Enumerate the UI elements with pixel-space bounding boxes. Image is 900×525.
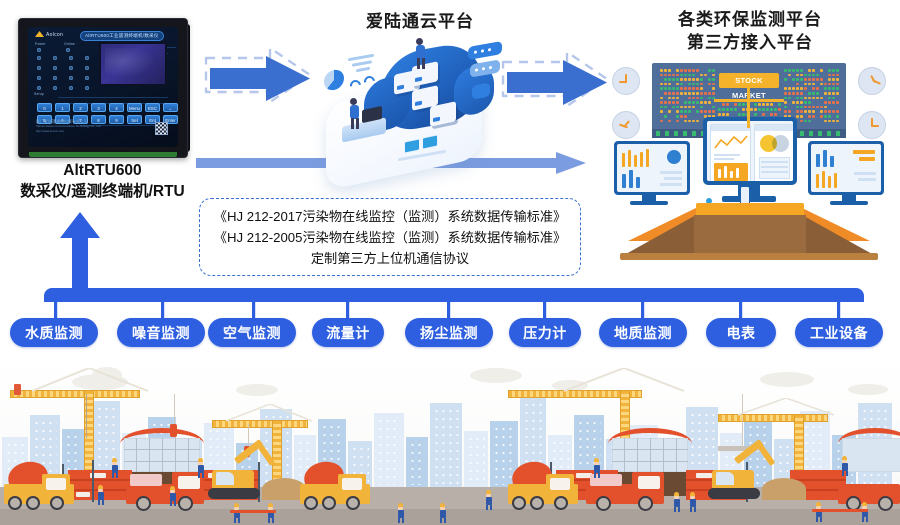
device-key-9[interactable]: 9	[109, 115, 124, 124]
stock-market-label: STOCK MARKET	[719, 73, 779, 88]
transfer-arrow-1-icon	[208, 54, 314, 104]
monitoring-platform-title-line2: 第三方接入平台	[625, 31, 875, 54]
side-monitor-right	[808, 141, 884, 195]
monitoring-platform-title: 各类环保监测平台 第三方接入平台	[625, 8, 875, 54]
line-chart-icon	[714, 134, 748, 152]
cloud-3	[236, 384, 278, 396]
sensor-pill-label: 水质监测	[25, 323, 83, 343]
device-key-0[interactable]: 0	[37, 103, 52, 112]
standard-line-2: 《HJ 212-2005污染物在线监控（监测）系统数据传输标准》	[214, 227, 566, 248]
sensor-pill-label: 电表	[727, 323, 756, 343]
wall-clock-4	[858, 111, 886, 139]
standards-box: 《HJ 212-2017污染物在线监控（监测）系统数据传输标准》 《HJ 212…	[199, 198, 581, 276]
main-monitor-screen	[707, 121, 793, 181]
road	[0, 509, 900, 525]
device-pcb-edge	[29, 152, 177, 157]
device-key-4[interactable]: 4	[109, 103, 124, 112]
infographic-root: 爱陆通云平台 各类环保监测平台 第三方接入平台 Aolcon AltRTU600…	[0, 0, 900, 525]
sensor-pill-label: 流量计	[326, 323, 370, 343]
side-monitor-left-screen	[617, 144, 687, 192]
desk-front	[694, 215, 806, 255]
cloud-7	[848, 384, 888, 395]
cloud-platform-illustration	[318, 36, 498, 176]
sensor-pill-8[interactable]: 电表	[706, 318, 776, 347]
sensor-pill-label: 噪音监测	[132, 323, 190, 343]
dashboard-panel-right	[754, 124, 793, 181]
brand-mark-icon	[35, 31, 44, 37]
crane-1-top	[30, 368, 150, 392]
cloud-4	[470, 368, 522, 383]
crane-2-top	[224, 404, 314, 422]
sensor-pill-label: 工业设备	[810, 323, 868, 343]
device-company-text: 厦门爱陆通通信科技有限公司 Xiamen Aolcon Communicatio…	[36, 119, 101, 134]
main-monitor	[703, 117, 797, 185]
board-center-pole	[747, 88, 750, 128]
sensor-pill-4[interactable]: 流量计	[312, 318, 384, 347]
sensor-pill-3[interactable]: 空气监测	[208, 318, 296, 347]
sensor-pill-6[interactable]: 压力计	[509, 318, 581, 347]
monitoring-platform-illustration: STOCK MARKET	[606, 55, 892, 270]
device-key-esc[interactable]: ESC	[145, 103, 160, 112]
transfer-arrow-2-icon	[505, 58, 611, 108]
arc-decoration-1	[348, 78, 363, 93]
desk-front-left	[624, 215, 696, 255]
standard-line-3: 定制第三方上位机通信协议	[311, 248, 469, 269]
device-type-label: 数采仪/遥测终端机/RTU	[0, 181, 205, 202]
construction-site-illustration	[0, 362, 900, 525]
device-brand-logo: Aolcon	[35, 31, 63, 38]
device-body: Aolcon AltRTU600工业遥测终端机/数采仪 Power Online…	[18, 18, 188, 158]
device-lcd-screen	[99, 42, 167, 86]
dashboard-panel-left	[710, 124, 751, 181]
qr-code-icon	[155, 122, 168, 135]
device-key-set[interactable]: Set	[127, 115, 142, 124]
dirt-pile-2	[762, 478, 806, 500]
side-monitor-right-screen	[811, 144, 881, 192]
side-monitor-left	[614, 141, 690, 195]
sensor-pill-1[interactable]: 水质监测	[10, 318, 98, 347]
desk-edge	[620, 253, 878, 260]
sensor-pill-7[interactable]: 地质监测	[599, 318, 687, 347]
device-key-menu[interactable]: Menu	[127, 103, 142, 112]
sensor-pill-2[interactable]: 噪音监测	[117, 318, 205, 347]
rtu-device-image: Aolcon AltRTU600工业遥测终端机/数采仪 Power Online…	[18, 18, 188, 158]
sensor-pill-5[interactable]: 扬尘监测	[405, 318, 493, 347]
device-caption: AltRTU600 数采仪/遥测终端机/RTU	[0, 160, 205, 202]
sensor-pill-label: 空气监测	[223, 323, 281, 343]
device-key-back[interactable]: ←	[163, 103, 178, 112]
device-label-online: Online	[64, 42, 75, 46]
device-key-3[interactable]: 3	[91, 103, 106, 112]
cloud-platform-title: 爱陆通云平台	[330, 10, 510, 33]
chat-bubble-1	[468, 41, 502, 60]
pie-chart-decoration	[324, 68, 344, 92]
device-label-reset: Setup	[34, 92, 44, 96]
crane-3-top	[562, 368, 686, 392]
desk-front-right	[802, 215, 874, 255]
device-label-power: Power	[35, 42, 46, 46]
wall-clock-2	[612, 111, 640, 139]
excavator-1-track	[208, 488, 260, 499]
monitoring-platform-title-line1: 各类环保监测平台	[625, 8, 875, 31]
standard-line-1: 《HJ 212-2017污染物在线监控（监测）系统数据传输标准》	[214, 206, 566, 227]
device-panel-banner: AltRTU600工业遥测终端机/数采仪	[80, 31, 164, 41]
sensor-pill-label: 地质监测	[614, 323, 672, 343]
sensor-pill-label: 压力计	[523, 323, 567, 343]
wall-clock-1	[612, 67, 640, 95]
cloud-6	[760, 372, 814, 387]
excavator-2-track	[708, 488, 760, 499]
device-front-face: Aolcon AltRTU600工业遥测终端机/数采仪 Power Online…	[28, 27, 178, 147]
glass-facade-3	[842, 438, 900, 472]
sensor-pill-9[interactable]: 工业设备	[795, 318, 883, 347]
board-center-crossbar	[714, 99, 784, 102]
device-key-2[interactable]: 2	[73, 103, 88, 112]
device-model-label: AltRTU600	[0, 160, 205, 181]
crane-4-top	[736, 398, 836, 416]
wall-clock-3	[858, 67, 886, 95]
sensor-pill-label: 扬尘监测	[420, 323, 478, 343]
device-key-1[interactable]: 1	[55, 103, 70, 112]
